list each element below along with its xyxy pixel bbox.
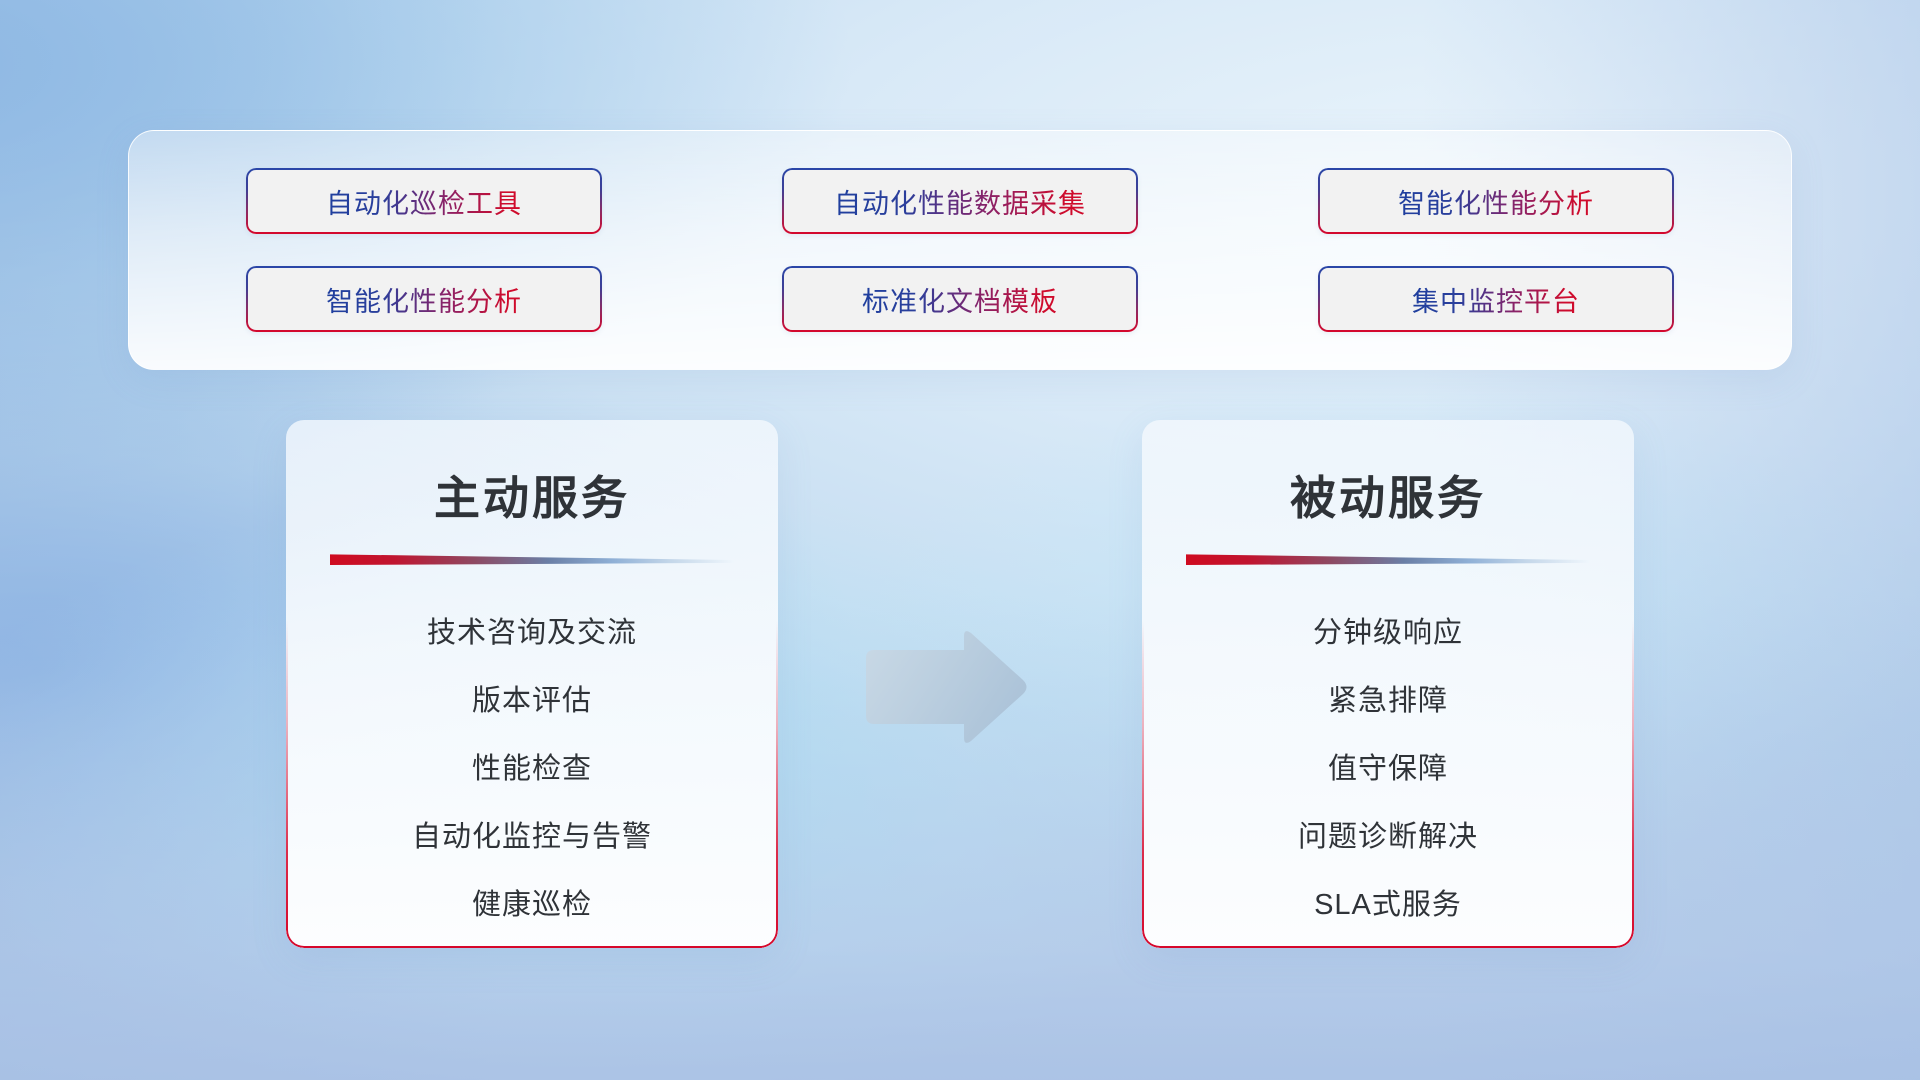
service-card-divider <box>330 552 734 565</box>
capability-pill-label: 自动化性能数据采集 <box>834 182 1086 221</box>
service-card-divider <box>1186 552 1590 565</box>
service-list-item: 性能检查 <box>472 745 592 787</box>
service-item-list: 分钟级响应 紧急排障 值守保障 问题诊断解决 SLA式服务 <box>1142 609 1634 923</box>
service-item-list: 技术咨询及交流 版本评估 性能检查 自动化监控与告警 健康巡检 <box>286 609 778 923</box>
capability-pill-automated-performance-data-collection[interactable]: 自动化性能数据采集 <box>782 168 1138 234</box>
service-card-title: 主动服务 <box>286 462 778 528</box>
slide-stage: 自动化巡检工具 自动化性能数据采集 智能化性能分析 智能化性能分析 标准化文档模… <box>0 0 1920 1080</box>
service-list-item: 紧急排障 <box>1328 677 1448 719</box>
arrow-right-icon <box>860 628 1030 748</box>
service-comparison-row: 主动服务 技术咨询及交流 版本评估 性能检查 自动化监控与告警 健康巡检 <box>0 420 1920 950</box>
service-list-item: 版本评估 <box>472 677 592 719</box>
service-list-item: 自动化监控与告警 <box>412 813 652 855</box>
service-card-proactive[interactable]: 主动服务 技术咨询及交流 版本评估 性能检查 自动化监控与告警 健康巡检 <box>286 420 778 948</box>
service-list-item: 技术咨询及交流 <box>427 609 637 651</box>
service-list-item: 值守保障 <box>1328 745 1448 787</box>
capability-pill-label: 自动化巡检工具 <box>326 182 522 221</box>
divider-wedge-shape <box>330 552 734 565</box>
capability-pill-label: 集中监控平台 <box>1412 280 1580 319</box>
capability-pill-intelligent-performance-analysis-top[interactable]: 智能化性能分析 <box>1318 168 1674 234</box>
capability-pill-label: 智能化性能分析 <box>326 280 522 319</box>
capability-panel: 自动化巡检工具 自动化性能数据采集 智能化性能分析 智能化性能分析 标准化文档模… <box>128 130 1792 370</box>
capability-pill-label: 标准化文档模板 <box>862 280 1058 319</box>
service-list-item: 分钟级响应 <box>1313 609 1463 651</box>
capability-pill-automated-inspection-tool[interactable]: 自动化巡检工具 <box>246 168 602 234</box>
service-list-item: SLA式服务 <box>1314 881 1462 923</box>
capability-pill-intelligent-performance-analysis-bottom[interactable]: 智能化性能分析 <box>246 266 602 332</box>
capability-pill-centralized-monitoring-platform[interactable]: 集中监控平台 <box>1318 266 1674 332</box>
service-list-item: 问题诊断解决 <box>1298 813 1478 855</box>
divider-wedge-shape <box>1186 552 1590 565</box>
service-list-item: 健康巡检 <box>472 881 592 923</box>
capability-pill-label: 智能化性能分析 <box>1398 182 1594 221</box>
capability-pill-standardized-document-template[interactable]: 标准化文档模板 <box>782 266 1138 332</box>
service-card-title: 被动服务 <box>1142 462 1634 528</box>
service-card-reactive[interactable]: 被动服务 分钟级响应 紧急排障 值守保障 问题诊断解决 SLA式服务 <box>1142 420 1634 948</box>
